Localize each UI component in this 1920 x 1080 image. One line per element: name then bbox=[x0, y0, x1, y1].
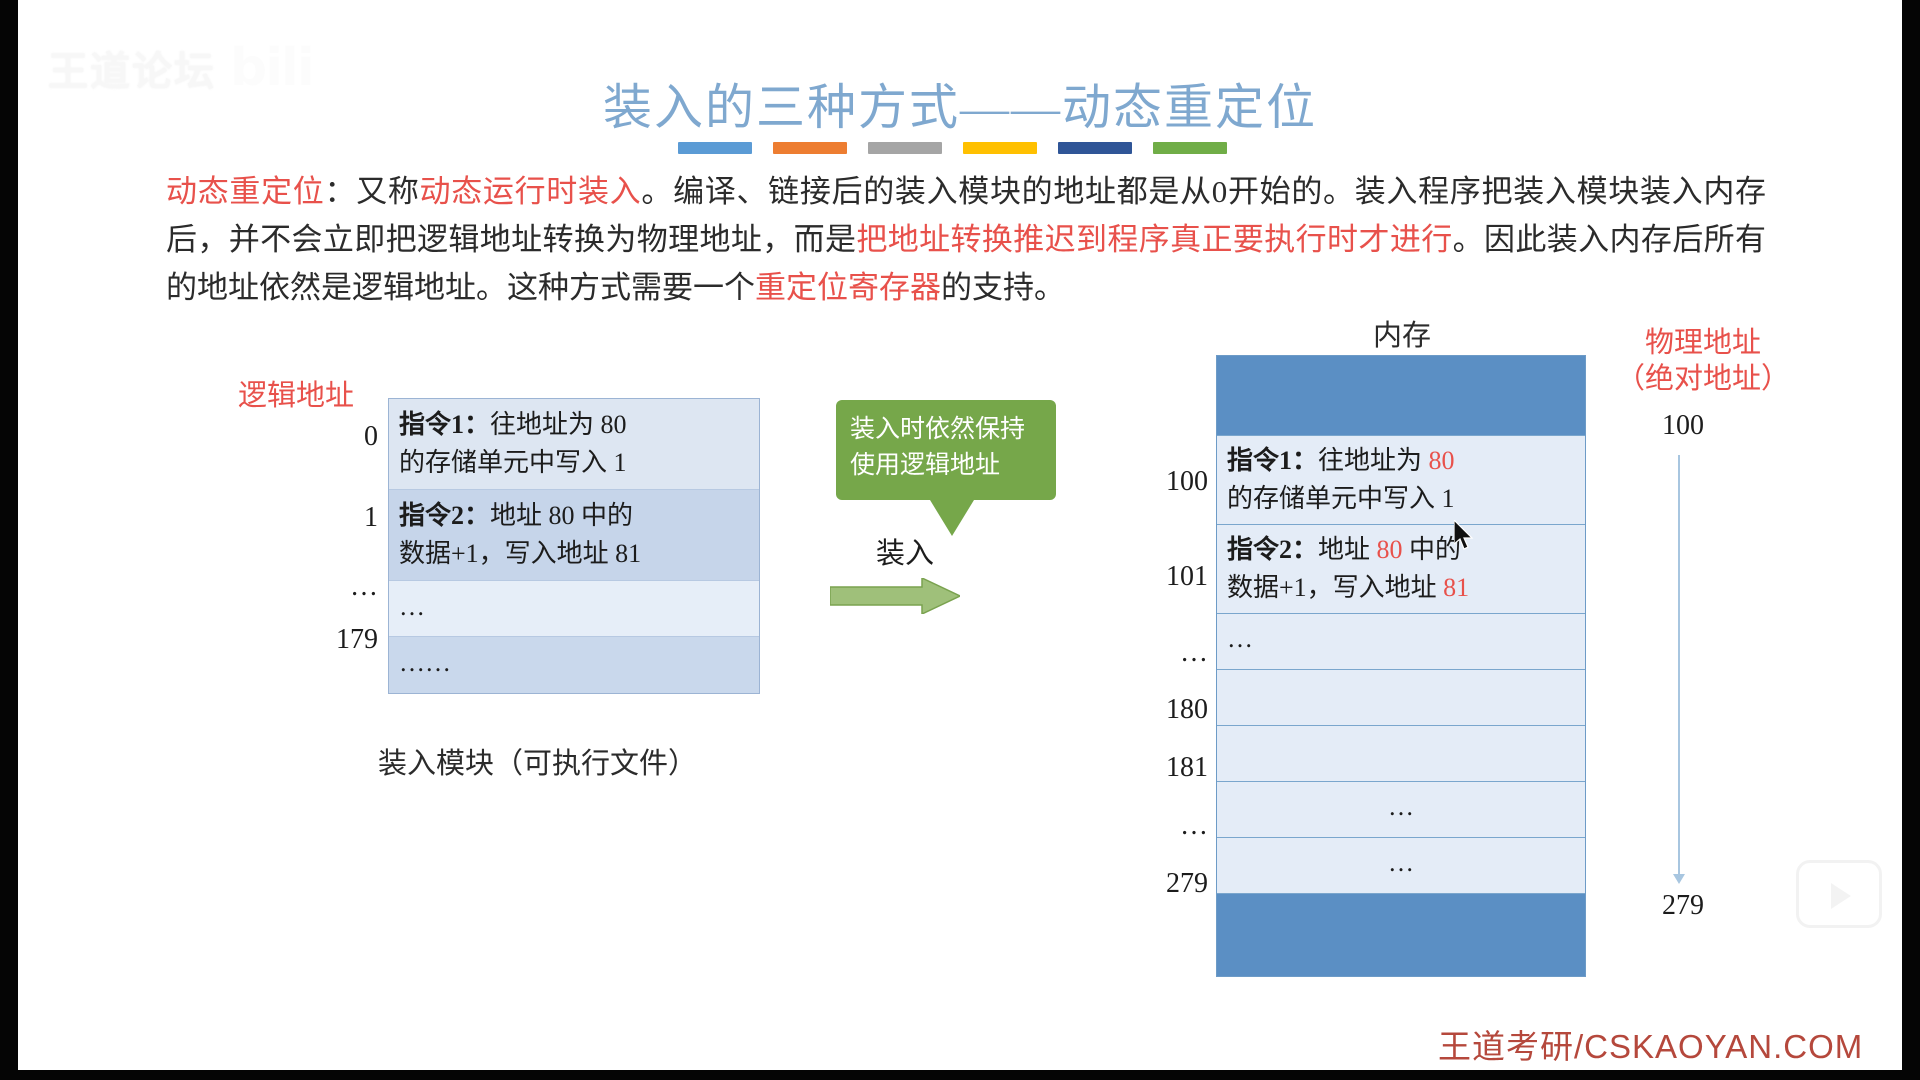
left-row1-text-b: 中的 bbox=[575, 501, 634, 530]
table-row bbox=[1217, 356, 1585, 436]
module-caption: 装入模块（可执行文件） bbox=[378, 740, 697, 782]
para-term-runtime-load: 动态运行时装入 bbox=[420, 174, 642, 209]
left-row3-text: …… bbox=[399, 648, 451, 677]
left-addr-3: 179 bbox=[248, 613, 378, 667]
page-title: 装入的三种方式——动态重定位 bbox=[18, 68, 1902, 139]
left-row0-label: 指令1 bbox=[399, 410, 464, 439]
table-row bbox=[1217, 726, 1585, 782]
left-row1-text-a: 地址 bbox=[490, 501, 549, 530]
para-term-dynamic-relocation: 动态重定位 bbox=[166, 174, 324, 209]
left-row1-num-b: 81 bbox=[615, 539, 641, 568]
callout-line2: 使用逻辑地址 bbox=[850, 448, 1042, 484]
left-row1-num-a: 80 bbox=[549, 501, 575, 530]
left-row0-sep: ： bbox=[464, 410, 490, 439]
mem-row1-label: 指令1 bbox=[1227, 446, 1292, 475]
accent-bar-3 bbox=[868, 142, 942, 154]
callout-line1: 装入时依然保持 bbox=[850, 412, 1042, 448]
slide-canvas: 王道论坛 bili 装入的三种方式——动态重定位 动态重定位：又称动态运行时装入… bbox=[18, 0, 1902, 1072]
para-term-deferred-translation: 把地址转换推迟到程序真正要执行时才进行 bbox=[856, 222, 1452, 257]
physical-address-line1: 物理地址 bbox=[1616, 325, 1790, 361]
table-row: … bbox=[1217, 614, 1585, 670]
mem-addr-3: … bbox=[1108, 625, 1208, 681]
table-row: 指令1：往地址为 80的存储单元中写入 1 bbox=[1217, 436, 1585, 525]
table-row: 指令2：地址 80 中的数据+1，写入地址 81 bbox=[389, 490, 759, 581]
mem-addr-2: 101 bbox=[1108, 529, 1208, 625]
letterbox-right bbox=[1902, 0, 1920, 1080]
physical-address-bottom: 279 bbox=[1618, 890, 1748, 922]
mem-row7-text: … bbox=[1388, 848, 1414, 877]
callout-bubble: 装入时依然保持 使用逻辑地址 bbox=[836, 400, 1056, 500]
mem-addr-7: 279 bbox=[1108, 855, 1208, 913]
load-arrow-icon bbox=[830, 578, 960, 614]
mem-row6-text: … bbox=[1388, 792, 1414, 821]
table-row: 指令1：往地址为 80的存储单元中写入 1 bbox=[389, 399, 759, 490]
mem-row1-text-b: 的存储单元中写入 1 bbox=[1227, 484, 1455, 513]
mem-row2-text-a: 地址 bbox=[1318, 535, 1377, 564]
mem-row1-text-a: 往地址为 bbox=[1318, 446, 1429, 475]
letterbox-bottom bbox=[0, 1070, 1920, 1080]
mem-addr-6: … bbox=[1108, 797, 1208, 855]
table-row: …… bbox=[389, 637, 759, 693]
left-row1-sep: ： bbox=[464, 501, 490, 530]
para-seg2: ：又称 bbox=[324, 174, 419, 209]
left-addr-0: 0 bbox=[248, 398, 378, 476]
callout-tail-icon bbox=[930, 500, 974, 536]
physical-address-label: 物理地址 （绝对地址） bbox=[1616, 325, 1790, 397]
mem-addr-1: 100 bbox=[1108, 435, 1208, 529]
mem-row1-sep: ： bbox=[1292, 446, 1318, 475]
mem-row2-num-a: 80 bbox=[1377, 535, 1403, 564]
left-addr-1: 1 bbox=[248, 476, 378, 560]
mem-row2-text-b: 中的 bbox=[1403, 535, 1462, 564]
table-row: … bbox=[389, 581, 759, 637]
accent-bar-5 bbox=[1058, 142, 1132, 154]
mem-row2-text-c: 数据+1，写入地址 bbox=[1227, 573, 1443, 602]
para-term-relocation-register: 重定位寄存器 bbox=[755, 270, 941, 305]
mem-row2-label: 指令2 bbox=[1227, 535, 1292, 564]
left-row1-text-c: 数据+1，写入地址 bbox=[399, 539, 615, 568]
left-row0-text-a: 往地址为 bbox=[490, 410, 601, 439]
memory-table: 指令1：往地址为 80的存储单元中写入 1 指令2：地址 80 中的数据+1，写… bbox=[1216, 355, 1586, 977]
mouse-cursor-icon bbox=[1454, 520, 1478, 554]
left-row1-label: 指令2 bbox=[399, 501, 464, 530]
letterbox-left bbox=[0, 0, 18, 1080]
mem-addr-5: 181 bbox=[1108, 739, 1208, 797]
mem-row3-text: … bbox=[1227, 624, 1253, 653]
table-row bbox=[1217, 670, 1585, 726]
physical-address-column: 100 bbox=[1618, 410, 1748, 442]
load-arrow-label: 装入 bbox=[876, 530, 934, 572]
physical-address-top: 100 bbox=[1618, 410, 1748, 442]
mem-addr-4: 180 bbox=[1108, 681, 1208, 739]
accent-bar-4 bbox=[963, 142, 1037, 154]
brand-footer: 王道考研/CSKAOYAN.COM bbox=[1438, 1020, 1863, 1068]
mem-addr-0 bbox=[1108, 355, 1208, 435]
accent-bar-1 bbox=[678, 142, 752, 154]
table-row bbox=[1217, 894, 1585, 976]
body-paragraph: 动态重定位：又称动态运行时装入。编译、链接后的装入模块的地址都是从0开始的。装入… bbox=[166, 168, 1766, 312]
table-row: … bbox=[1217, 782, 1585, 838]
mem-row2-num-b: 81 bbox=[1443, 573, 1469, 602]
table-row: 指令2：地址 80 中的数据+1，写入地址 81 bbox=[1217, 525, 1585, 614]
memory-address-gutter: 100 101 … 180 181 … 279 bbox=[1108, 355, 1208, 913]
physical-address-line2: （绝对地址） bbox=[1616, 361, 1790, 397]
left-addr-2: … bbox=[248, 560, 378, 613]
left-row0-num-a: 80 bbox=[601, 410, 627, 439]
left-address-gutter: 0 1 … 179 bbox=[248, 398, 378, 667]
left-row0-text-b: 的存储单元中写入 1 bbox=[399, 448, 627, 477]
para-seg8: 的支持。 bbox=[941, 270, 1065, 305]
slide-stage: 王道论坛 bili 装入的三种方式——动态重定位 动态重定位：又称动态运行时装入… bbox=[0, 0, 1920, 1080]
mem-row2-sep: ： bbox=[1292, 535, 1318, 564]
memory-label: 内存 bbox=[1373, 312, 1431, 354]
mem-row1-num-a: 80 bbox=[1429, 446, 1455, 475]
accent-bar-2 bbox=[773, 142, 847, 154]
load-module-table: 指令1：往地址为 80的存储单元中写入 1 指令2：地址 80 中的数据+1，写… bbox=[388, 398, 760, 694]
table-row: … bbox=[1217, 838, 1585, 894]
left-row2-text: … bbox=[399, 592, 425, 621]
title-accent-bars bbox=[678, 142, 1227, 154]
physical-address-range-arrow-icon bbox=[1678, 455, 1680, 875]
play-button-icon[interactable] bbox=[1796, 860, 1882, 928]
accent-bar-6 bbox=[1153, 142, 1227, 154]
